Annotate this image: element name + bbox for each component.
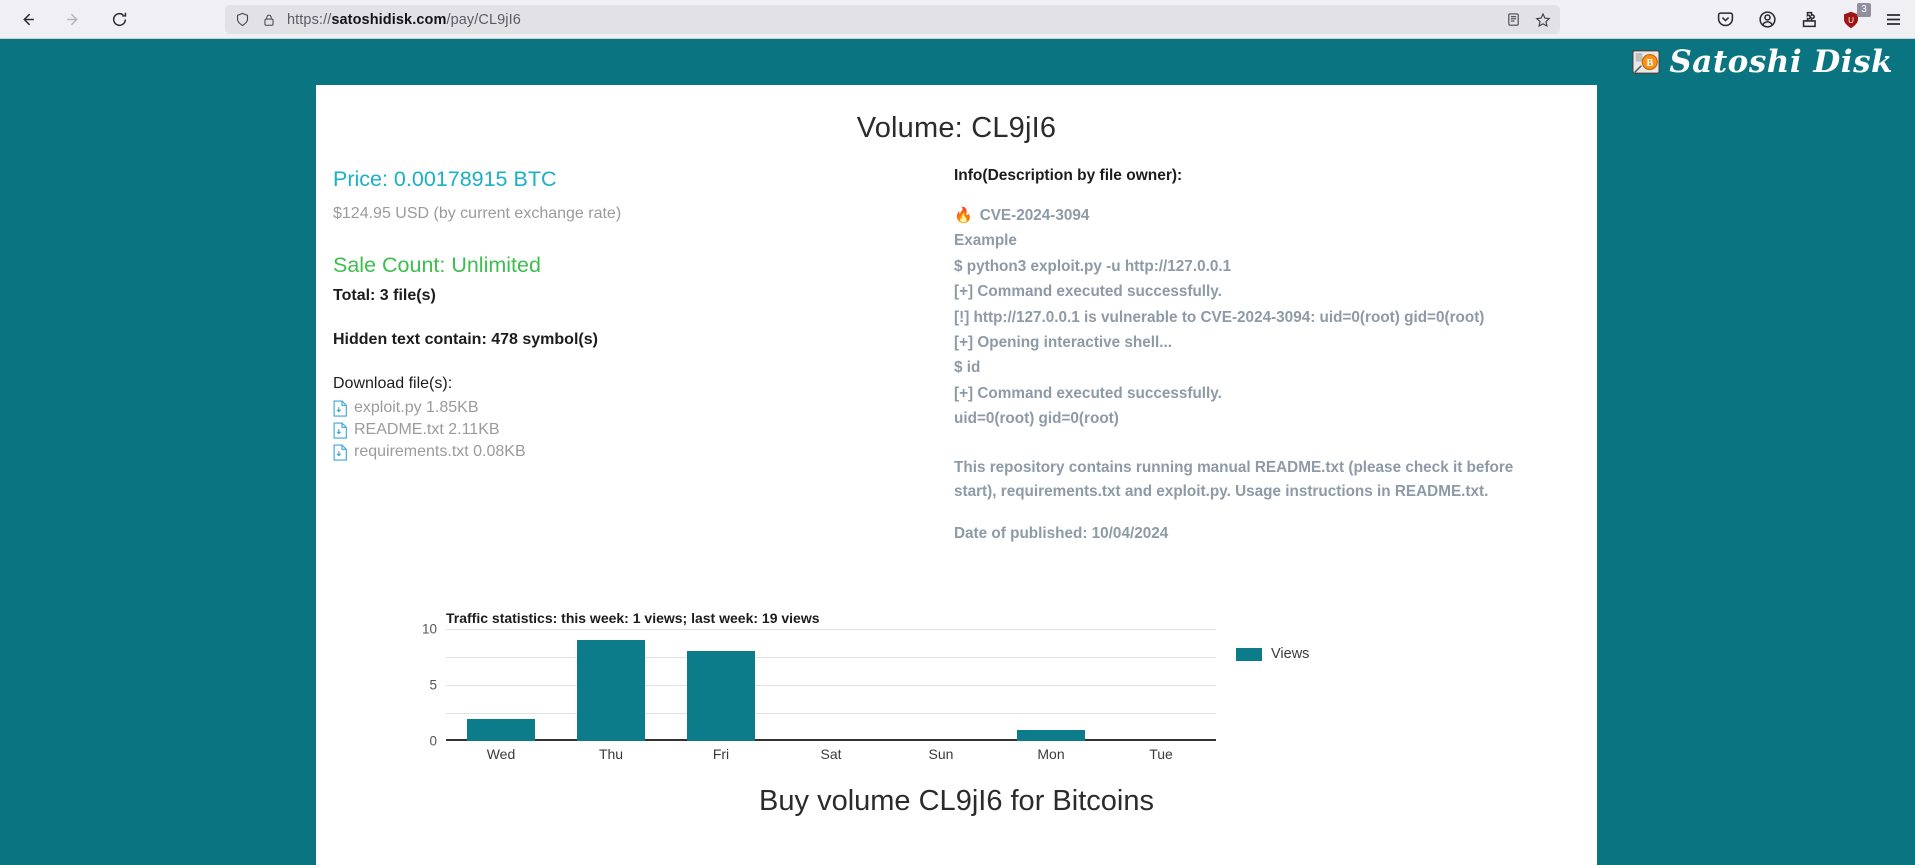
sale-count-label: Sale Count: Unlimited — [333, 253, 953, 278]
addressbar-actions — [1504, 11, 1552, 29]
bar-slot — [886, 629, 996, 741]
download-file-item[interactable]: exploit.py 1.85KB — [333, 399, 953, 417]
download-file-item[interactable]: requirements.txt 0.08KB — [333, 443, 953, 461]
bar-slot — [996, 629, 1106, 741]
description-line: [+] Opening interactive shell... — [954, 333, 1579, 353]
forward-arrow-icon — [65, 11, 82, 28]
y-axis-tick: 10 — [422, 622, 437, 637]
lock-icon[interactable] — [260, 11, 278, 29]
forward-button[interactable] — [58, 4, 88, 34]
x-axis-tick: Fri — [666, 746, 776, 762]
description-line: Example — [954, 231, 1579, 251]
hidden-text-label: Hidden text contain: 478 symbol(s) — [333, 331, 953, 349]
hamburger-menu-icon[interactable] — [1879, 6, 1907, 34]
legend-label: Views — [1271, 646, 1309, 662]
reader-view-icon[interactable] — [1504, 11, 1522, 29]
save-to-pocket-icon[interactable] — [1711, 6, 1739, 34]
bar-slot — [1106, 629, 1216, 741]
address-bar[interactable]: https://satoshidisk.com/pay/CL9jI6 — [225, 5, 1560, 34]
site-logo-text: Satoshi Disk — [1669, 44, 1893, 80]
published-date: Date of published: 10/04/2024 — [954, 525, 1579, 543]
description-line: 🔥 CVE-2024-3094 — [954, 206, 1579, 226]
bar-fri[interactable] — [687, 651, 755, 741]
reload-icon — [111, 11, 128, 28]
description-line: [+] Command executed successfully. — [954, 282, 1579, 302]
total-files-label: Total: 3 file(s) — [333, 287, 953, 305]
satoshi-disk-logo-icon: B — [1631, 47, 1661, 77]
bar-wed[interactable] — [467, 719, 535, 741]
x-axis-tick: Thu — [556, 746, 666, 762]
page-body: B Satoshi Disk Volume: CL9jI6 Price: 0.0… — [0, 39, 1915, 865]
extension-badge-count: 3 — [1857, 3, 1871, 17]
account-icon[interactable] — [1753, 6, 1781, 34]
ublock-shield-icon[interactable]: U 3 — [1837, 6, 1865, 34]
download-file-name: requirements.txt 0.08KB — [354, 443, 526, 461]
description-line: [!] http://127.0.0.1 is vulnerable to CV… — [954, 308, 1579, 328]
url-host: satoshidisk.com — [331, 12, 446, 28]
navigation-buttons — [0, 4, 134, 34]
bar-slot — [666, 629, 776, 741]
description-line: [+] Command executed successfully. — [954, 384, 1579, 404]
fire-emoji: 🔥 — [954, 206, 973, 226]
left-column: Price: 0.00178915 BTC $124.95 USD (by cu… — [333, 167, 953, 465]
usd-price-label: $124.95 USD (by current exchange rate) — [333, 205, 953, 223]
download-file-name: exploit.py 1.85KB — [354, 399, 479, 417]
description-line: uid=0(root) gid=0(root) — [954, 409, 1579, 429]
bar-thu[interactable] — [577, 640, 645, 741]
chart-x-labels: Wed Thu Fri Sat Sun Mon Tue — [446, 746, 1216, 762]
download-file-item[interactable]: README.txt 2.11KB — [333, 421, 953, 439]
x-axis-tick: Sun — [886, 746, 996, 762]
site-logo[interactable]: B Satoshi Disk — [1631, 44, 1893, 80]
description-line: $ python3 exploit.py -u http://127.0.0.1 — [954, 257, 1579, 277]
url-scheme: https:// — [287, 12, 331, 28]
chart-legend: Views — [1236, 646, 1309, 662]
price-label: Price: 0.00178915 BTC — [333, 167, 953, 192]
content-panel: Volume: CL9jI6 Price: 0.00178915 BTC $12… — [316, 85, 1597, 865]
buy-heading: Buy volume CL9jI6 for Bitcoins — [316, 785, 1597, 818]
bar-mon[interactable] — [1017, 730, 1085, 741]
toolbar-right-icons: U 3 — [1711, 0, 1907, 39]
info-heading: Info(Description by file owner): — [954, 167, 1579, 185]
bar-slot — [556, 629, 666, 741]
url-path: /pay/CL9jI6 — [446, 12, 520, 28]
x-axis-tick: Sat — [776, 746, 886, 762]
y-axis-tick: 5 — [429, 678, 437, 693]
x-axis-tick: Wed — [446, 746, 556, 762]
back-button[interactable] — [12, 4, 42, 34]
reload-button[interactable] — [104, 4, 134, 34]
url-text: https://satoshidisk.com/pay/CL9jI6 — [287, 12, 521, 28]
bar-slot — [776, 629, 886, 741]
back-arrow-icon — [19, 11, 36, 28]
browser-toolbar: https://satoshidisk.com/pay/CL9jI6 — [0, 0, 1915, 39]
bookmark-star-icon[interactable] — [1534, 11, 1552, 29]
right-column: Info(Description by file owner): 🔥 CVE-2… — [954, 167, 1579, 543]
file-download-icon — [333, 444, 348, 461]
legend-color-swatch — [1236, 648, 1262, 661]
svg-text:U: U — [1848, 16, 1854, 25]
chart-bars — [446, 629, 1216, 741]
tracking-protection-shield-icon[interactable] — [233, 11, 251, 29]
traffic-chart: Traffic statistics: this week: 1 views; … — [316, 610, 1597, 770]
download-files-heading: Download file(s): — [333, 375, 953, 393]
x-axis-tick: Mon — [996, 746, 1106, 762]
svg-text:B: B — [1647, 58, 1654, 69]
site-header: B Satoshi Disk — [0, 39, 1915, 85]
description-paragraph: This repository contains running manual … — [954, 456, 1549, 503]
download-file-name: README.txt 2.11KB — [354, 421, 500, 439]
description-line-text: CVE-2024-3094 — [980, 206, 1090, 226]
file-download-icon — [333, 422, 348, 439]
description-line: $ id — [954, 358, 1579, 378]
y-axis-tick: 0 — [429, 734, 437, 749]
file-download-icon — [333, 400, 348, 417]
chart-title: Traffic statistics: this week: 1 views; … — [446, 610, 820, 626]
page-title: Volume: CL9jI6 — [316, 85, 1597, 145]
extensions-puzzle-icon[interactable] — [1795, 6, 1823, 34]
chart-plot-area: 10 5 0 — [446, 629, 1216, 741]
bar-slot — [446, 629, 556, 741]
x-axis-tick: Tue — [1106, 746, 1216, 762]
